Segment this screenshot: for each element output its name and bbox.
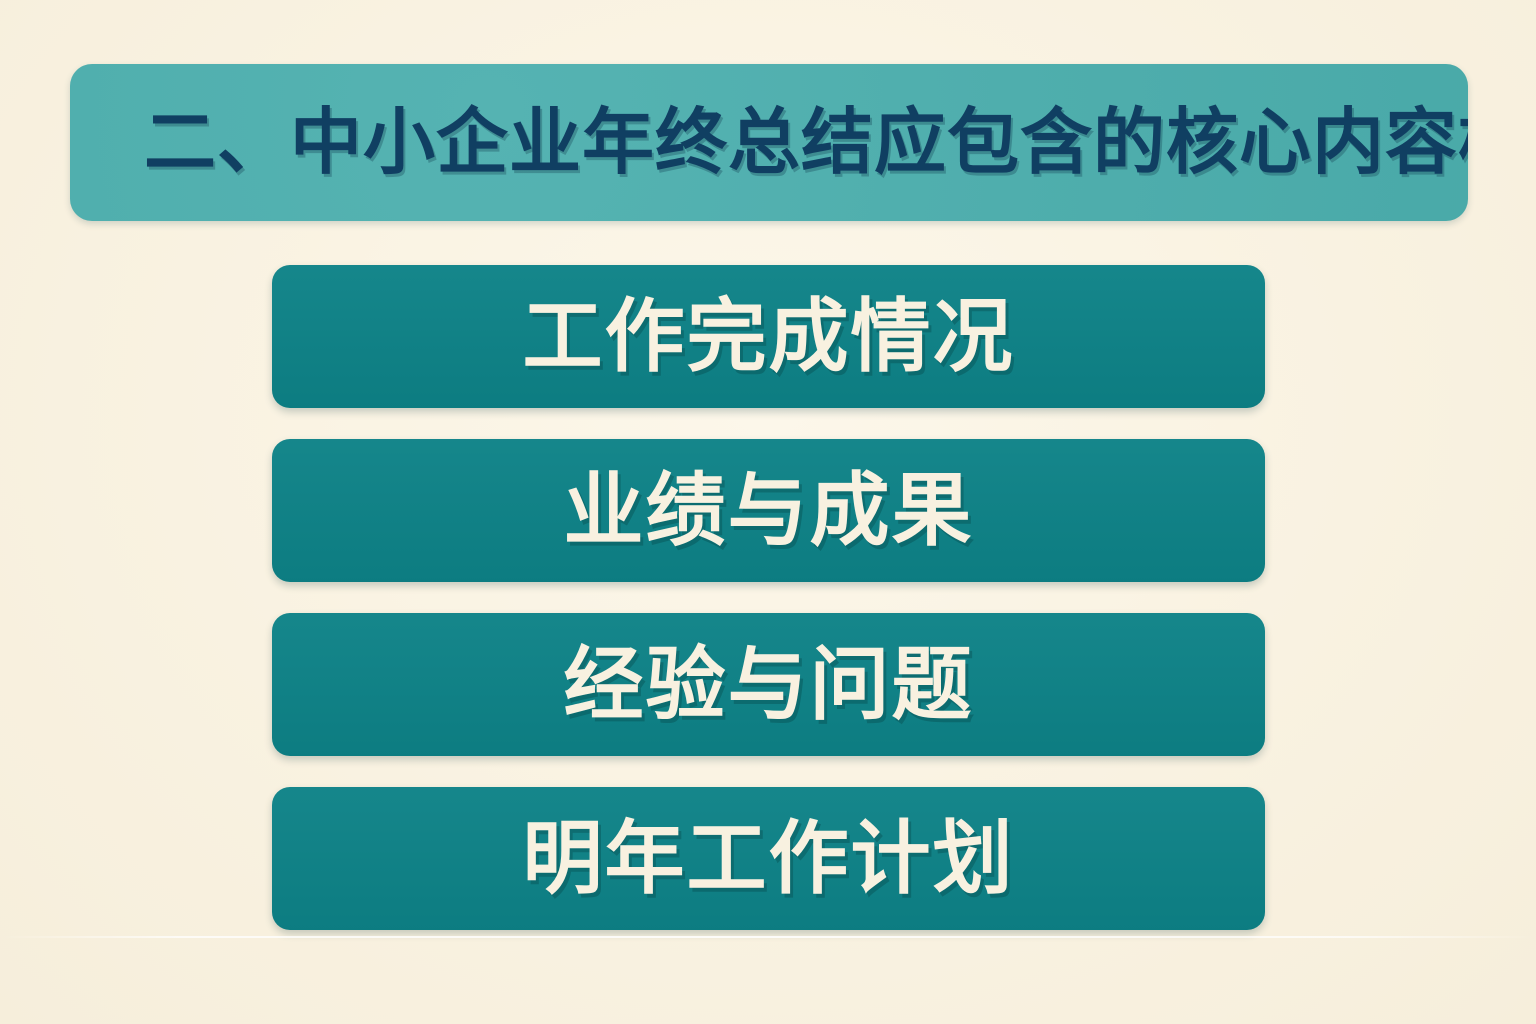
content-card-next-year-plan[interactable]: 明年工作计划 bbox=[272, 787, 1265, 930]
content-card-label: 业绩与成果 bbox=[564, 471, 974, 551]
slide-title: 二、中小企业年终总结应包含的核心内容模 bbox=[144, 107, 1468, 179]
content-card-performance-results[interactable]: 业绩与成果 bbox=[272, 439, 1265, 582]
content-card-work-completion[interactable]: 工作完成情况 bbox=[272, 265, 1265, 408]
content-card-label: 工作完成情况 bbox=[523, 297, 1015, 377]
slide-title-band: 二、中小企业年终总结应包含的核心内容模 bbox=[70, 64, 1468, 221]
content-card-label: 经验与问题 bbox=[564, 645, 974, 725]
content-card-label: 明年工作计划 bbox=[523, 819, 1015, 899]
content-card-experience-problems[interactable]: 经验与问题 bbox=[272, 613, 1265, 756]
paper-texture-rule bbox=[0, 936, 1536, 938]
content-card-list: 工作完成情况 业绩与成果 经验与问题 明年工作计划 bbox=[272, 265, 1265, 930]
presentation-slide: 二、中小企业年终总结应包含的核心内容模 工作完成情况 业绩与成果 经验与问题 明… bbox=[0, 0, 1536, 1024]
